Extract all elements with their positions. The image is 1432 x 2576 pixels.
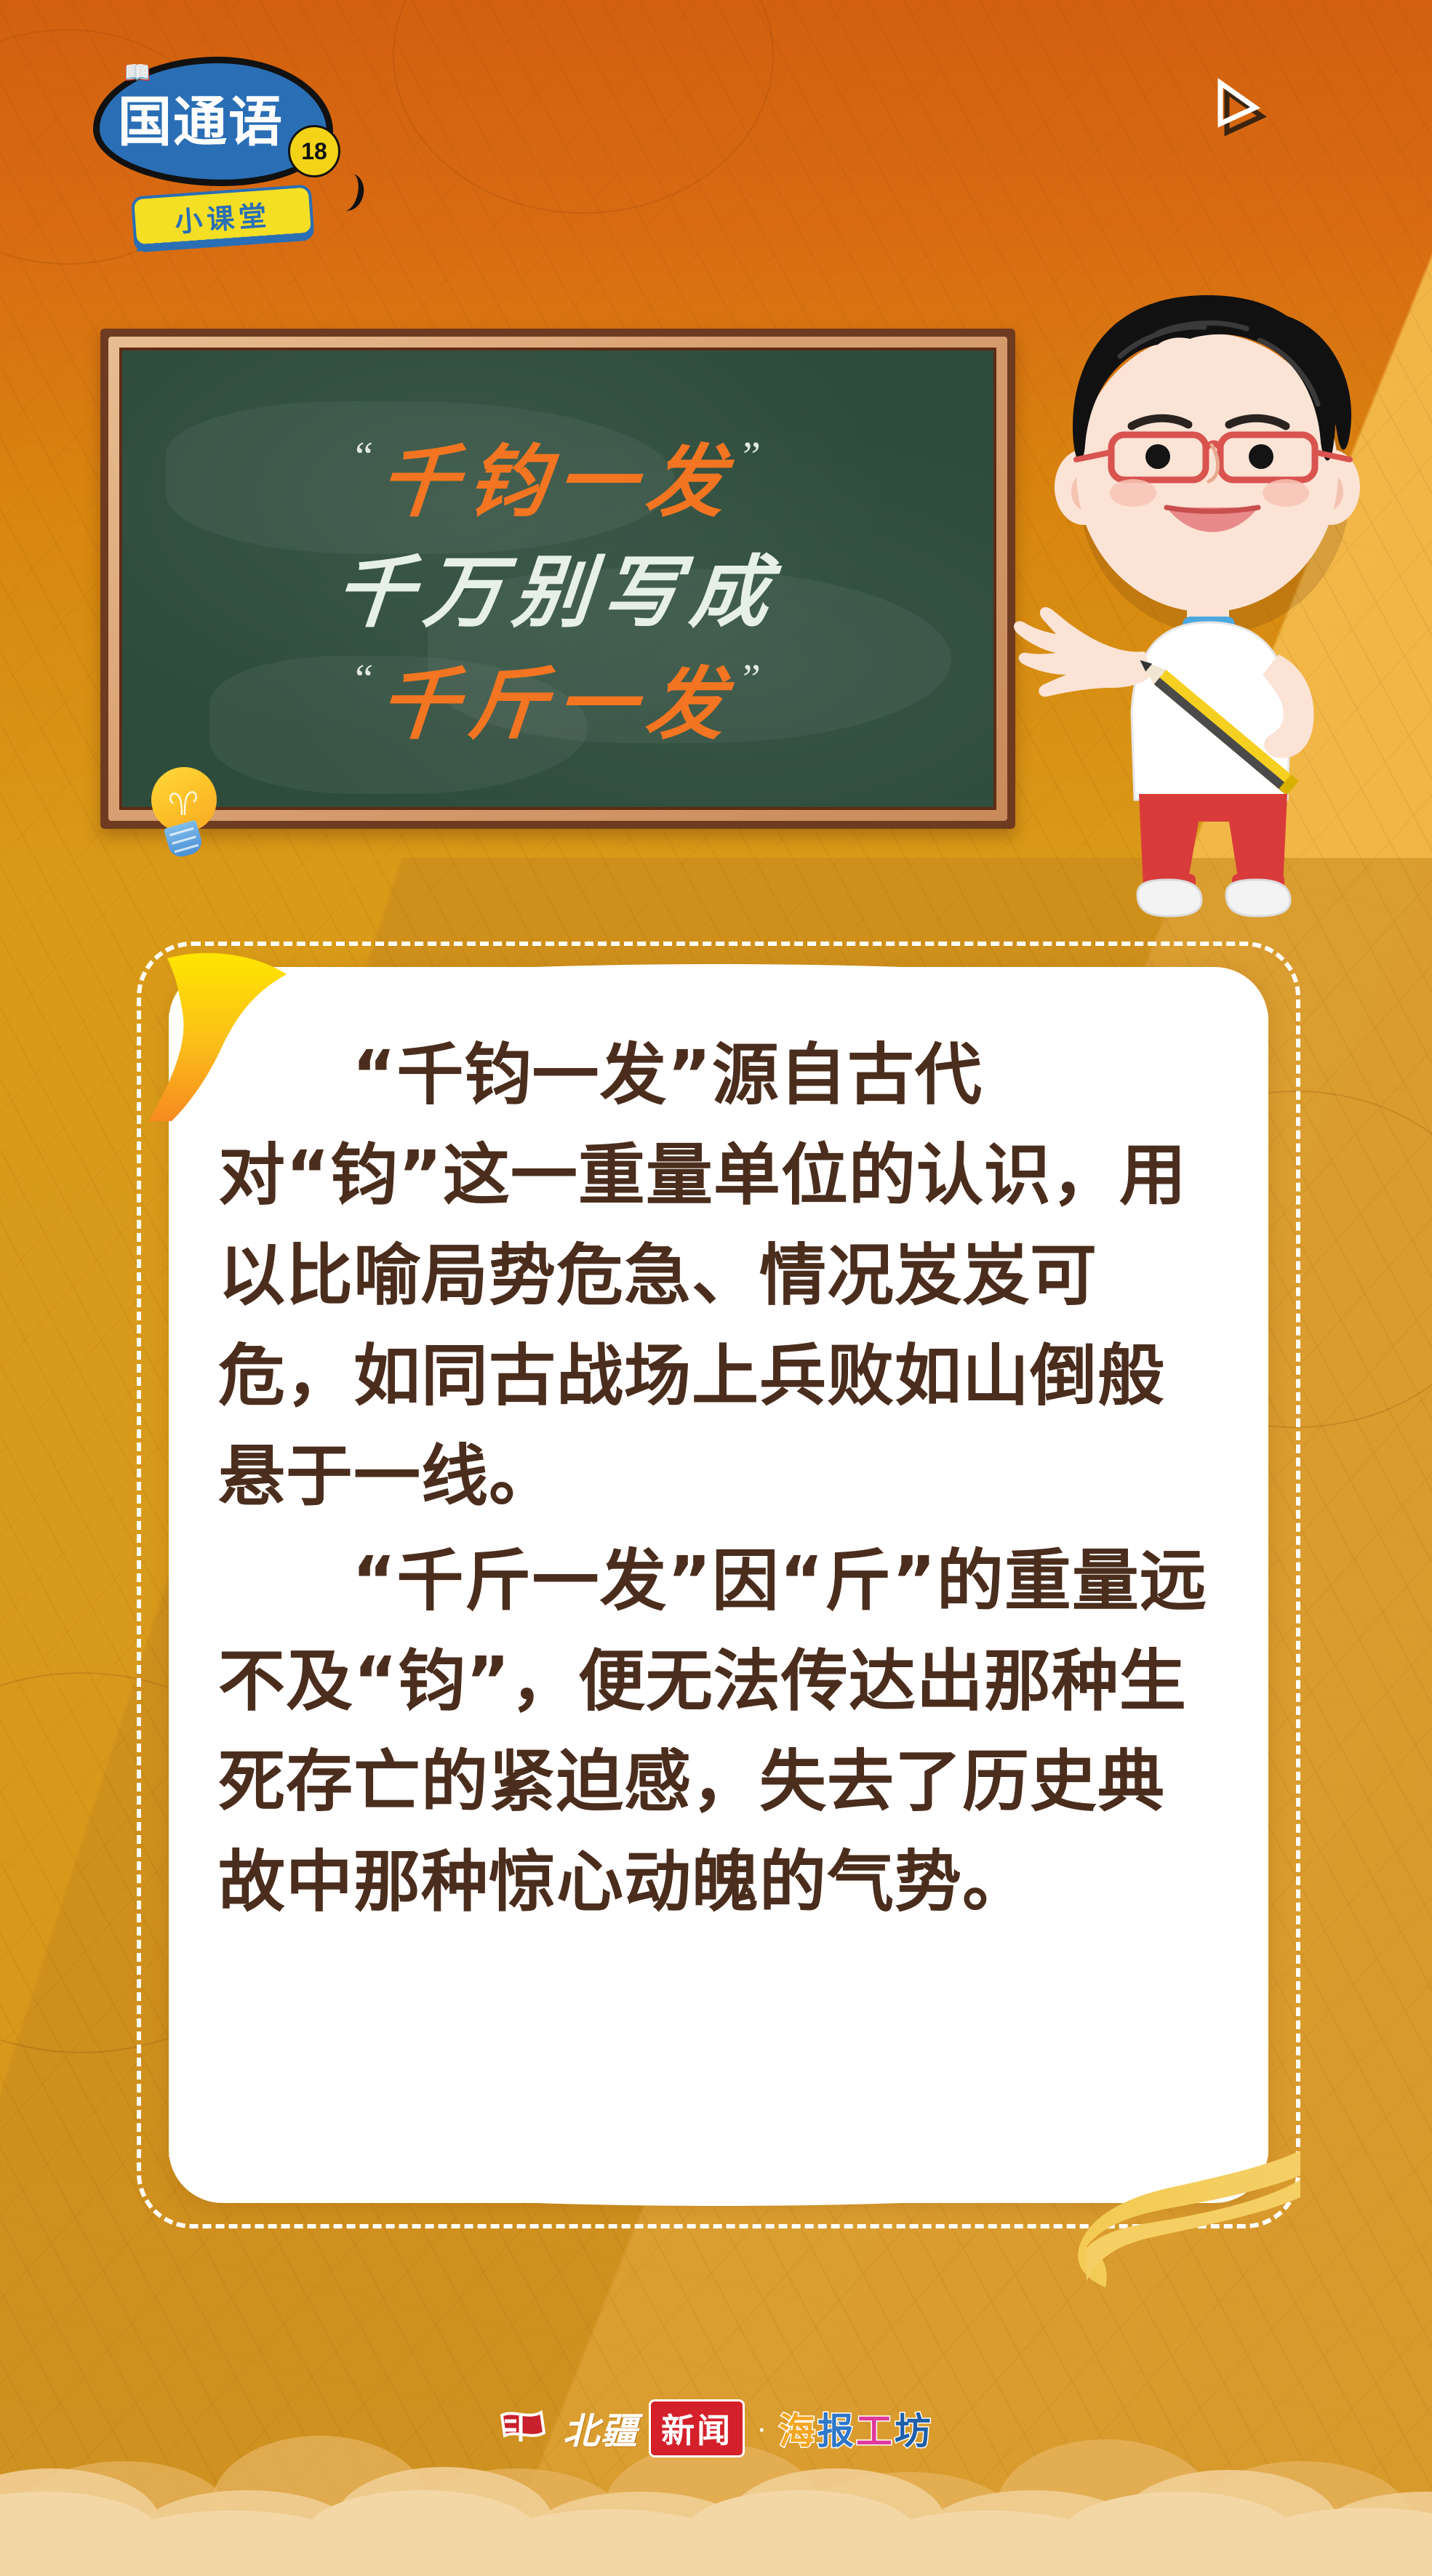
student-boy-illustration xyxy=(989,247,1396,938)
eye-left xyxy=(1145,444,1170,469)
blackboard-frame-bevel: “ 千钧一发 ” 千万别写成 “ 千斤一发 ” xyxy=(108,337,1007,821)
play-triangle-icon xyxy=(1207,76,1273,145)
bei-flag-icon xyxy=(499,2408,553,2449)
paragraph-2: “千斤一发”因“斤”的重量远不及“钧”，便无法传达出那种生死存亡的紧迫感，失去了… xyxy=(218,1531,1229,1933)
footer-news-badge: 新闻 xyxy=(649,2399,745,2457)
blackboard-line-3: “ 千斤一发 ” xyxy=(122,641,993,755)
paragraph-1: “千钧一发”源自古代对“钧”这一重量单位的认识，用以比喻局势危急、情况岌岌可危，… xyxy=(218,1025,1229,1527)
footer-brand-name: 北疆 xyxy=(563,2402,639,2455)
blackboard-line-2: 千万别写成 xyxy=(122,529,993,643)
blackboard-line-1: “ 千钧一发 ” xyxy=(122,419,993,532)
footer-studio-char: 报 xyxy=(817,2410,856,2452)
open-quote: “ xyxy=(348,659,380,699)
blackboard-phrase-wrong: 千斤一发 xyxy=(375,641,740,755)
pants xyxy=(1139,794,1287,887)
footer-studio-name: 海报工坊 xyxy=(779,2402,933,2455)
blackboard: “ 千钧一发 ” 千万别写成 “ 千斤一发 ” xyxy=(100,329,1015,829)
footer-studio-char: 工 xyxy=(856,2410,895,2452)
poster-root: 📖 国通语 18 小课堂 “ 千钧一发 ” 千万别 xyxy=(0,0,1432,2576)
shoe-left xyxy=(1137,880,1201,916)
article-body: “千钧一发”源自古代对“钧”这一重量单位的认识，用以比喻局势危急、情况岌岌可危，… xyxy=(218,1025,1229,1937)
open-quote: “ xyxy=(348,436,380,477)
close-quote: ” xyxy=(735,659,768,699)
brand-logo[interactable]: 📖 国通语 18 小课堂 xyxy=(93,57,355,231)
footer-studio-char: 海 xyxy=(779,2410,817,2452)
logo-title: 国通语 xyxy=(118,92,284,153)
footer-separator: · xyxy=(756,2412,767,2444)
blackboard-surface: “ 千钧一发 ” 千万别写成 “ 千斤一发 ” xyxy=(119,348,996,810)
close-quote: ” xyxy=(735,436,768,477)
blackboard-warning: 千万别写成 xyxy=(331,529,785,643)
bottom-scallop-front xyxy=(0,2487,1432,2576)
open-book-icon: 📖 xyxy=(124,63,150,84)
lightbulb-icon xyxy=(145,767,223,869)
shoe-right xyxy=(1226,880,1290,916)
footer-studio-char: 坊 xyxy=(895,2410,933,2452)
logo-episode-badge: 18 xyxy=(288,125,340,177)
blackboard-phrase-correct: 千钧一发 xyxy=(375,419,740,532)
footer-brand-bar: 北疆 新闻 · 海报工坊 xyxy=(0,2399,1432,2457)
eye-right xyxy=(1249,444,1273,469)
ribbon-bottom-right xyxy=(1011,2094,1302,2312)
arm-left-waving xyxy=(1014,607,1152,697)
lightbulb-filament xyxy=(166,787,201,816)
